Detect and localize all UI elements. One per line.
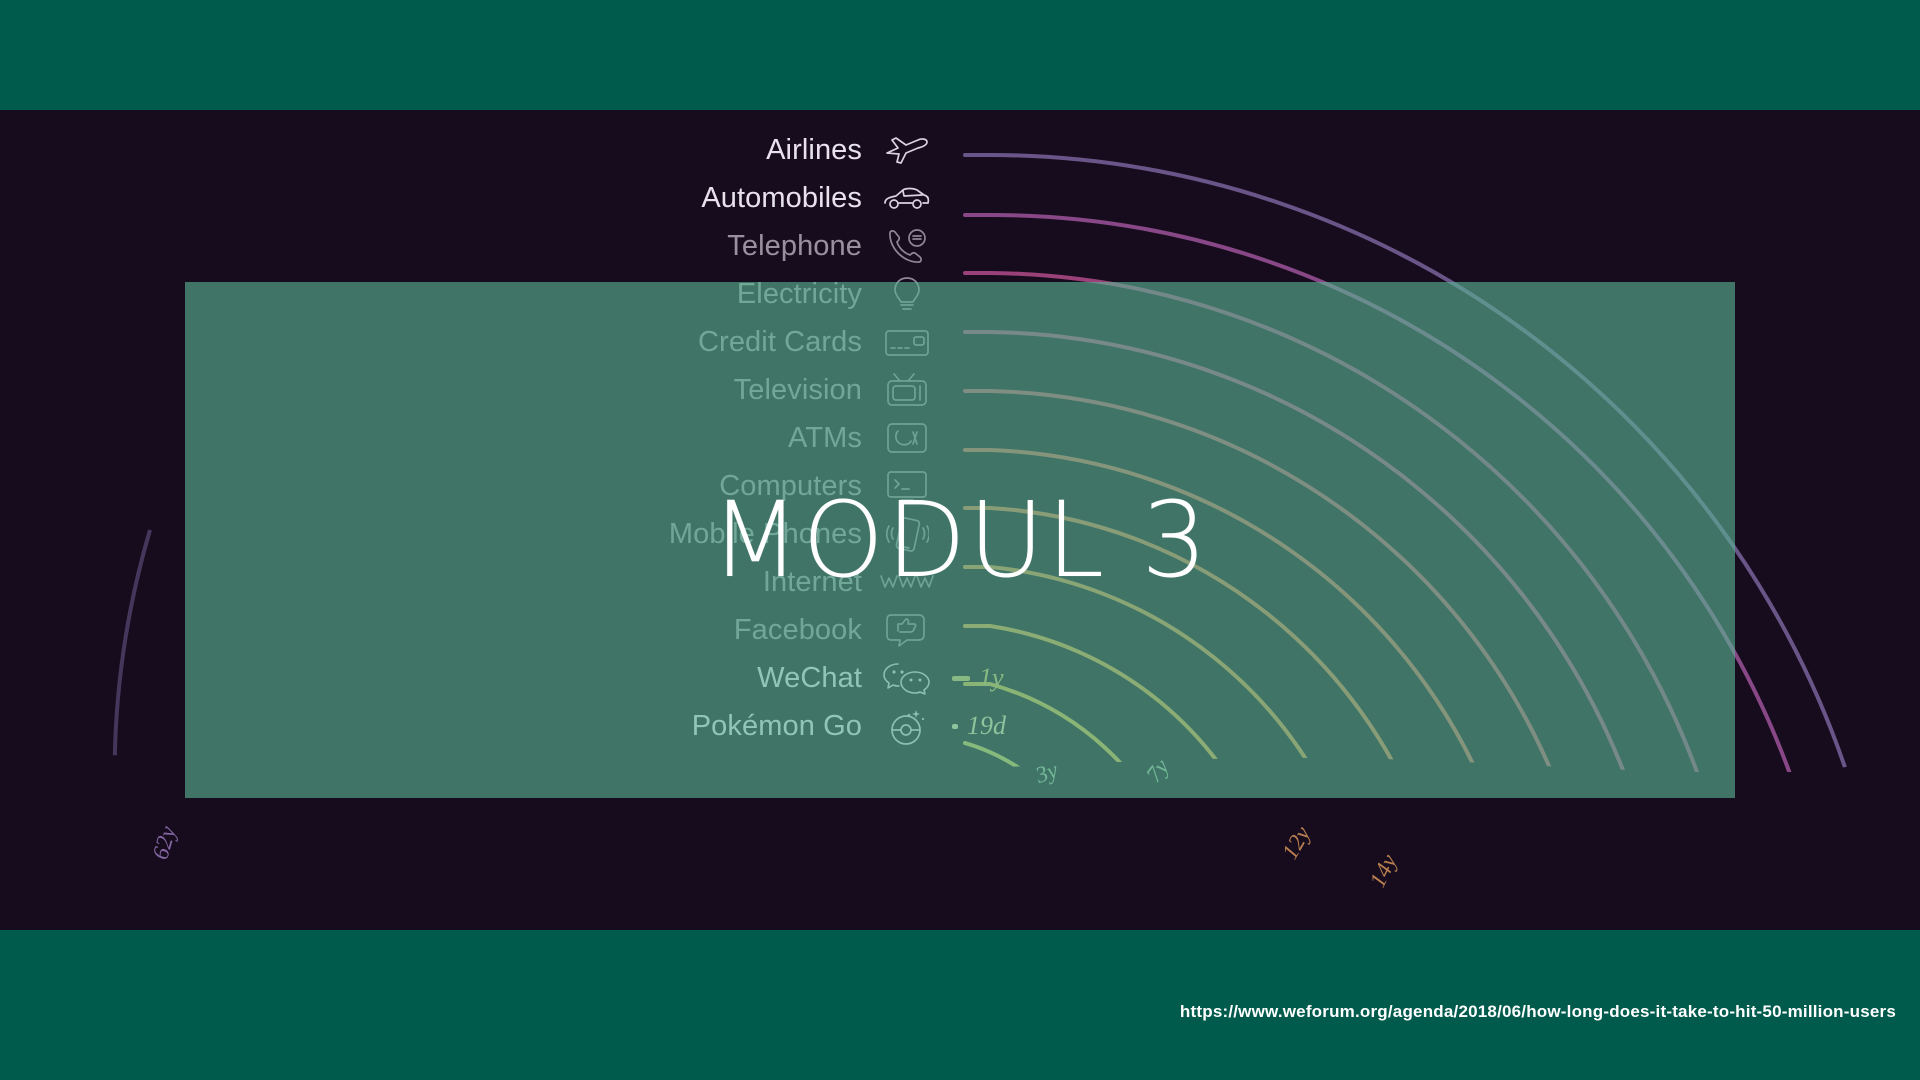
row-airlines: Airlines [0,128,1920,172]
row-label: Automobiles [0,182,862,215]
slide-canvas: Airlines Automobiles Telephone [0,0,1920,1080]
car-icon [876,176,938,220]
row-telephone: Telephone [0,224,1920,268]
telephone-icon [876,224,938,268]
airplane-icon [876,128,938,172]
source-url: https://www.weforum.org/agenda/2018/06/h… [1180,1002,1896,1022]
row-label: Telephone [0,230,862,263]
row-label: Airlines [0,134,862,167]
row-automobiles: Automobiles [0,176,1920,220]
page-title: MODUL 3 [185,282,1735,798]
